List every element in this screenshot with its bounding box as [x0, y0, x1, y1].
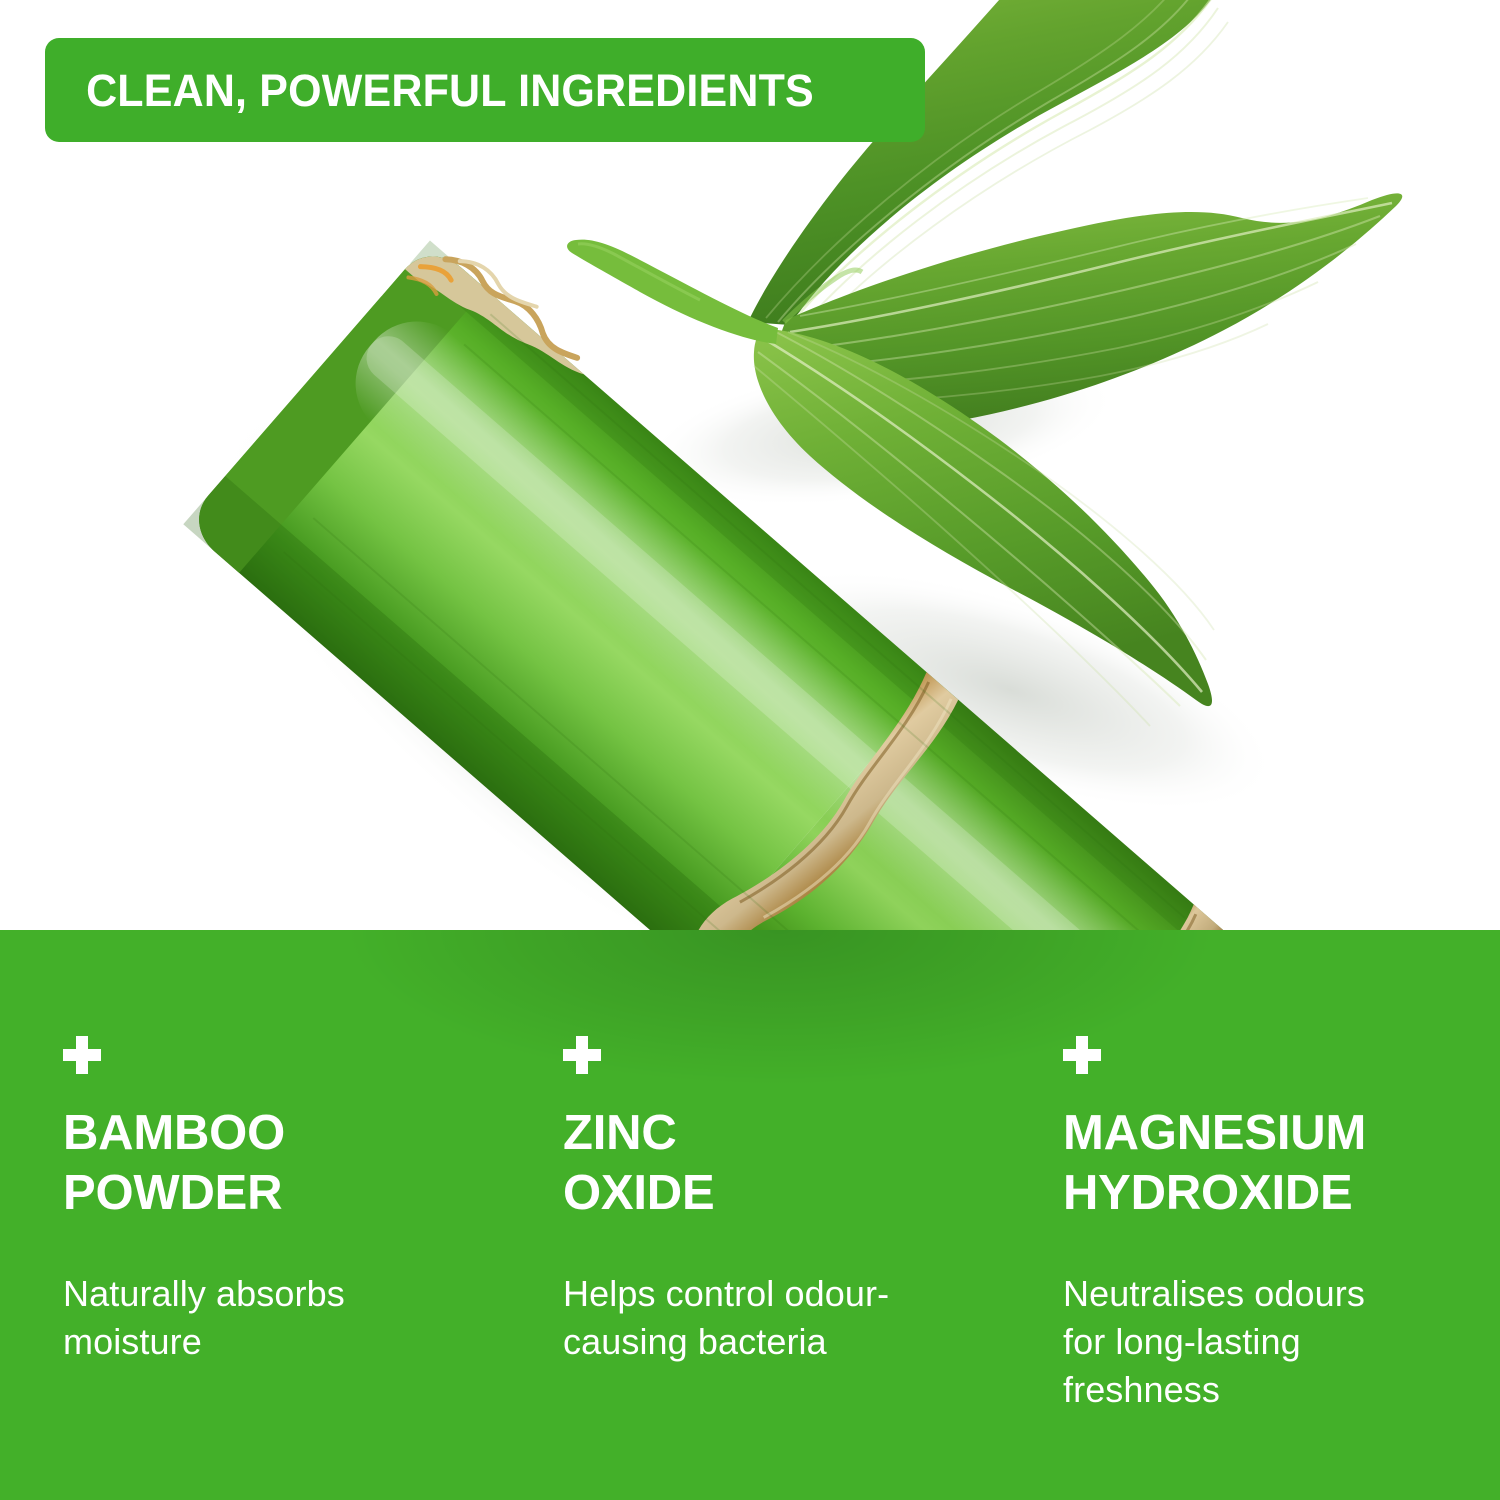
- plus-icon: [63, 1036, 101, 1074]
- product-ingredients-infographic: CLEAN, POWERFUL INGREDIENTS BAMBOO POWDE…: [0, 0, 1500, 1500]
- plus-icon: [1063, 1036, 1101, 1074]
- ingredient-column-zinc-oxide: ZINC OXIDE Helps control odour- causing …: [500, 930, 1000, 1500]
- ingredient-column-magnesium-hydroxide: MAGNESIUM HYDROXIDE Neutralises odours f…: [1000, 930, 1500, 1500]
- ingredient-title: MAGNESIUM HYDROXIDE: [1063, 1103, 1480, 1223]
- plus-icon: [563, 1036, 601, 1074]
- ingredient-columns: BAMBOO POWDER Naturally absorbs moisture…: [0, 930, 1500, 1500]
- banner-title: CLEAN, POWERFUL INGREDIENTS: [45, 68, 814, 113]
- ingredient-column-bamboo-powder: BAMBOO POWDER Naturally absorbs moisture: [0, 930, 500, 1500]
- ingredient-description: Naturally absorbs moisture: [63, 1270, 472, 1366]
- ingredient-title: ZINC OXIDE: [563, 1103, 972, 1223]
- ingredient-description: Helps control odour- causing bacteria: [563, 1270, 972, 1366]
- ingredient-title: BAMBOO POWDER: [63, 1103, 472, 1223]
- header-banner: CLEAN, POWERFUL INGREDIENTS: [45, 38, 925, 142]
- ingredient-description: Neutralises odours for long-lasting fres…: [1063, 1270, 1480, 1414]
- ingredients-panel: BAMBOO POWDER Naturally absorbs moisture…: [0, 930, 1500, 1500]
